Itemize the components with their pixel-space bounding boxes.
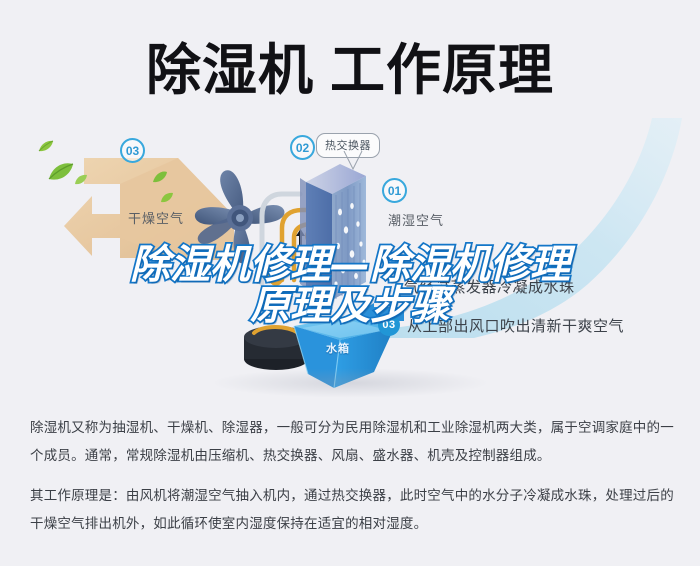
page-title: 除湿机工作原理 <box>146 43 554 98</box>
bubble-pointer-icon <box>342 151 364 171</box>
humid-air-label: 潮湿空气 <box>388 210 444 229</box>
step-list: 气经过蒸发器冷凝成水珠 03 从上部出风口吹出清新干爽空气 <box>378 276 688 353</box>
step-item-03: 03 从上部出风口吹出清新干爽空气 <box>378 314 688 336</box>
step-02-text: 气经过蒸发器冷凝成水珠 <box>404 276 575 297</box>
infographic-page: 除湿机工作原理 <box>0 0 700 566</box>
callout-badge-03: 03 <box>120 138 145 163</box>
callout-badge-01: 01 <box>382 178 407 203</box>
leaf-icon <box>74 174 88 186</box>
working-principle-diagram: 水箱 03 02 01 热交换器 干燥空气 潮湿空气 气经过蒸发器冷凝成水珠 0… <box>0 118 700 408</box>
leaf-icon <box>152 170 168 184</box>
callout-badge-02: 02 <box>290 135 315 160</box>
step-03-text: 从上部出风口吹出清新干爽空气 <box>407 315 624 336</box>
step-item-02: 气经过蒸发器冷凝成水珠 <box>378 276 688 297</box>
page-header: 除湿机工作原理 <box>0 30 700 110</box>
page-title-part1: 除湿机 <box>146 38 314 102</box>
ground-shadow <box>210 368 490 398</box>
body-paragraph-2: 其工作原理是：由风机将潮湿空气抽入机内，通过热交换器，此时空气中的水分子冷凝成水… <box>30 483 675 538</box>
step-badge-03: 03 <box>378 314 400 336</box>
heat-exchanger-icon <box>300 160 368 310</box>
leaf-icon <box>48 162 74 182</box>
leaf-icon <box>38 140 54 153</box>
leaf-icon <box>160 192 174 204</box>
dry-air-label: 干燥空气 <box>128 208 184 227</box>
body-paragraph-1: 除湿机又称为抽湿机、干燥机、除湿器，一般可分为民用除湿机和工业除湿机两大类，属于… <box>30 415 675 470</box>
water-tank-label: 水箱 <box>326 340 350 356</box>
page-title-part2: 工作原理 <box>330 38 554 102</box>
article-body: 除湿机又称为抽湿机、干燥机、除湿器，一般可分为民用除湿机和工业除湿机两大类，属于… <box>30 415 675 539</box>
